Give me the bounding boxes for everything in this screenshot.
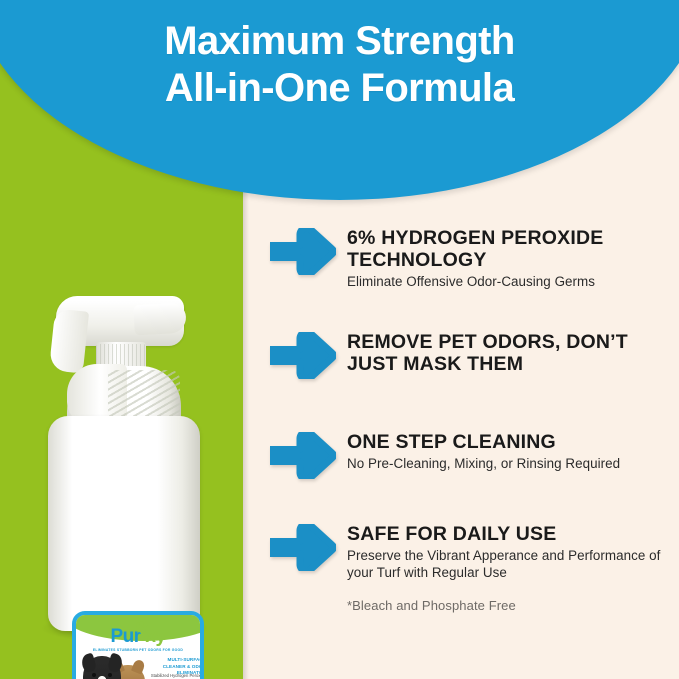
benefit-text-1: REMOVE PET ODORS, DON’T JUST MASK THEM: [347, 332, 676, 378]
benefit-sub-2: No Pre-Cleaning, Mixing, or Rinsing Requ…: [347, 456, 676, 473]
paw-print-icon: [135, 621, 149, 634]
arrow-right-icon: [270, 228, 336, 275]
benefit-heading-2: ONE STEP CLEANING: [347, 432, 676, 454]
header-line-2: All-in-One Formula: [0, 65, 679, 112]
benefit-heading-0: 6% HYDROGEN PEROXIDE TECHNOLOGY: [347, 228, 676, 272]
sprayer-nozzle: [133, 303, 186, 336]
arrow-right-icon: [270, 524, 336, 571]
sprayer-trigger: [49, 308, 89, 373]
infographic-root: Maximum Strength All-in-One Formula Pur …: [0, 0, 679, 679]
benefit-text-0: 6% HYDROGEN PEROXIDE TECHNOLOGY Eliminat…: [347, 228, 676, 291]
label-tagline: ELIMINATES STUBBORN PET ODORS FOR GOOD: [76, 648, 200, 652]
benefit-item-1: REMOVE PET ODORS, DON’T JUST MASK THEM: [266, 332, 676, 432]
benefit-text-3: SAFE FOR DAILY USE Preserve the Vibrant …: [347, 524, 676, 582]
cat-ear-right: [131, 658, 146, 674]
dog-ear-left: [80, 653, 97, 674]
pet-photo: [83, 655, 145, 679]
bottle-body: Pur xy ELIMINATES STUBBORN PET ODORS FOR…: [48, 416, 200, 631]
benefit-text-2: ONE STEP CLEANING No Pre-Cleaning, Mixin…: [347, 432, 676, 473]
benefit-item-2: ONE STEP CLEANING No Pre-Cleaning, Mixin…: [266, 432, 676, 524]
benefit-sub-3: Preserve the Vibrant Apperance and Perfo…: [347, 548, 676, 582]
page-title: Maximum Strength All-in-One Formula: [0, 18, 679, 112]
dog-eye-right: [108, 673, 112, 677]
benefits-list: 6% HYDROGEN PEROXIDE TECHNOLOGY Eliminat…: [266, 228, 676, 613]
arrow-right-icon: [270, 432, 336, 479]
dog-image: [83, 656, 121, 679]
product-label: Pur xy ELIMINATES STUBBORN PET ODORS FOR…: [72, 611, 204, 679]
benefit-item-0: 6% HYDROGEN PEROXIDE TECHNOLOGY Eliminat…: [266, 228, 676, 332]
dog-eye-left: [92, 673, 96, 677]
benefit-item-3: SAFE FOR DAILY USE Preserve the Vibrant …: [266, 524, 676, 582]
footnote: *Bleach and Phosphate Free: [347, 598, 676, 613]
arrow-right-icon: [270, 332, 336, 379]
benefit-heading-3: SAFE FOR DAILY USE: [347, 524, 676, 546]
benefit-sub-0: Eliminate Offensive Odor-Causing Germs: [347, 274, 676, 291]
product-bottle: Pur xy ELIMINATES STUBBORN PET ODORS FOR…: [34, 246, 214, 636]
header-line-1: Maximum Strength: [164, 19, 514, 63]
benefit-heading-1: REMOVE PET ODORS, DON’T JUST MASK THEM: [347, 332, 676, 376]
label-technology: Stabilized Hydrogen Peroxide Technology: [146, 673, 204, 679]
